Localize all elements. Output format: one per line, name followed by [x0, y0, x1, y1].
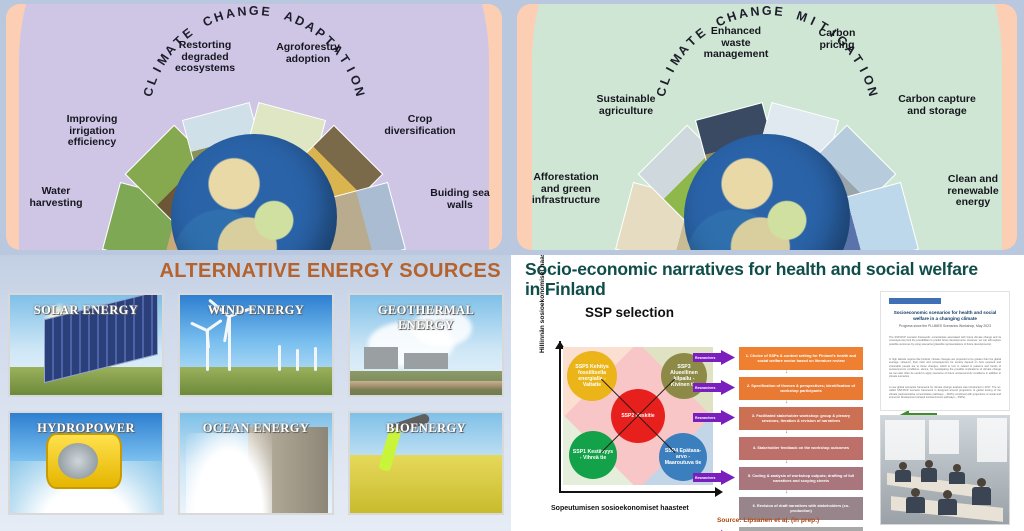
flow-step-box[interactable]: 3. Facilitated stakeholder workshop: gro… — [739, 407, 863, 430]
person-body — [921, 468, 937, 482]
flow-row: Researchers5. Coding & analysis of works… — [693, 467, 883, 494]
turbine-rotor — [58, 443, 98, 479]
rapeseed-field — [350, 455, 502, 513]
plant-building — [364, 347, 398, 369]
wind-turbine-icon — [278, 345, 281, 371]
hydro-turbine-icon — [46, 433, 122, 489]
doc-badge — [889, 298, 941, 304]
researchers-arrow-icon: Researchers — [693, 410, 735, 425]
flow-row: Researchers3. Facilitated stakeholder wo… — [693, 407, 883, 434]
person-head — [911, 488, 920, 497]
x-axis-label: Sopeutumisen sosioekonomiset haasteet — [551, 505, 689, 512]
researchers-arrow-icon: Researchers — [693, 350, 735, 365]
pipeline-icon — [350, 381, 502, 389]
caption-water-harvesting: Water harvesting — [20, 186, 92, 209]
wind-turbine-icon — [228, 315, 231, 371]
caption-sustainable-agriculture: Sustainable agriculture — [587, 94, 665, 117]
energy-tile-ocean[interactable]: OCEAN ENERGY — [178, 411, 334, 515]
energy-tile-grid: SOLAR ENERGY — [8, 293, 506, 529]
flow-down-arrow-icon: ↓ — [785, 429, 788, 435]
caption-irrigation: Improving irrigation efficiency — [56, 114, 128, 149]
flow-step-box[interactable]: 1. Choice of SSPs & context setting for … — [739, 347, 863, 370]
caption-crop-diversification: Crop diversification — [378, 114, 462, 137]
energy-tile-solar[interactable]: SOLAR ENERGY — [8, 293, 164, 397]
flow-row: Researchers7. Final SSP narratives for F… — [693, 527, 883, 531]
flow-down-arrow-icon: ↓ — [785, 369, 788, 375]
caption-agroforestry: Agroforestry adoption — [268, 42, 348, 65]
energy-tile-hydropower[interactable]: HYDROPOWER — [8, 411, 164, 515]
researchers-arrow-label: Researchers — [693, 412, 717, 423]
flow-down-arrow-icon: ↓ — [785, 399, 788, 405]
energy-tile-wind[interactable]: WIND ENERGY — [178, 293, 334, 397]
person-head — [925, 460, 933, 468]
caption-carbon-capture: Carbon capture and storage — [895, 94, 979, 117]
person-body — [906, 497, 925, 513]
alternative-energy-panel: ALTERNATIVE ENERGY SOURCES SOLAR ENERGY — [0, 255, 511, 531]
ssp-subtitle: SSP selection — [585, 305, 674, 320]
slide-collage: CLIMATE CHANGE ADAPTATION Water harvesti… — [0, 0, 1024, 531]
window — [977, 418, 1007, 462]
person-head — [943, 490, 952, 499]
person-body — [972, 487, 991, 505]
caption-afforestation: Afforestation and green infrastructure — [527, 172, 605, 207]
ground — [180, 367, 332, 395]
person-head — [977, 478, 986, 487]
flow-down-arrow-icon: ↓ — [785, 489, 788, 495]
flow-step-box[interactable]: 2. Specification of themes & perspective… — [739, 377, 863, 400]
flow-step-box[interactable]: 5. Coding & analysis of workshop outputs… — [739, 467, 863, 490]
policy-brief-thumbnail[interactable]: Socioeconomic scenarios for health and s… — [880, 291, 1010, 411]
person-body — [895, 470, 911, 482]
energy-tile-label: OCEAN ENERGY — [180, 421, 332, 436]
flow-row: Researchers1. Choice of SSPs & context s… — [693, 347, 883, 374]
doc-paragraph: In high latitude regions like Finland, c… — [889, 358, 1001, 378]
caption-waste-management: Enhanced waste management — [695, 26, 777, 61]
energy-tile-label: WIND ENERGY — [180, 303, 332, 318]
plant-building — [404, 353, 448, 369]
energy-panel-title: ALTERNATIVE ENERGY SOURCES — [159, 260, 501, 283]
caption-sea-walls: Buiding sea walls — [424, 188, 496, 211]
researchers-arrow-label: Researchers — [693, 472, 717, 483]
energy-tile-row-1: SOLAR ENERGY — [8, 293, 506, 397]
spillway-water-icon — [186, 433, 272, 513]
climate-mitigation-panel: CLIMATE CHANGE MITIGATION Afforestation … — [517, 4, 1017, 250]
bubble-ssp1[interactable]: SSP1 Kestävyys - Vihreä tie — [569, 431, 617, 479]
workshop-photo — [880, 415, 1010, 525]
flow-down-arrow-icon: ↓ — [785, 459, 788, 465]
y-axis-line — [559, 341, 561, 493]
researchers-arrow-icon: Researchers — [693, 470, 735, 485]
researchers-arrow-label: Researchers — [693, 382, 717, 393]
energy-tile-label: SOLAR ENERGY — [10, 303, 162, 318]
wind-turbine-icon — [314, 347, 317, 371]
energy-tile-bioenergy[interactable]: BIOENERGY — [348, 411, 504, 515]
wind-turbine-icon — [206, 329, 209, 371]
researchers-arrow-icon: Researchers — [693, 380, 735, 395]
energy-tile-geothermal[interactable]: GEOTHERMAL ENERGY — [348, 293, 504, 397]
doc-heading: Socioeconomic scenarios for health and s… — [889, 310, 1001, 322]
window — [929, 420, 959, 454]
climate-adaptation-panel: CLIMATE CHANGE ADAPTATION Water harvesti… — [6, 4, 502, 250]
quadrant-body: SSP5 Kehitys fossiilisella energialla - … — [563, 347, 713, 485]
bubble-ssp5[interactable]: SSP5 Kehitys fossiilisella energialla - … — [567, 351, 617, 401]
person-body — [938, 499, 957, 515]
process-flow-chart: Researchers1. Choice of SSPs & context s… — [693, 347, 883, 531]
source-citation: Source: Lipsanen et al. (in prep.) — [717, 517, 819, 524]
doc-paragraph: A new global scenarios framework for cli… — [889, 386, 1001, 400]
caption-restoring-ecosystems: Restorting degraded ecosystems — [164, 40, 246, 75]
flow-step-box[interactable]: 4. Stakeholder feedback on the workshop … — [739, 437, 863, 460]
flow-row: Researchers2. Specification of themes & … — [693, 377, 883, 404]
caption-renewable-energy: Clean and renewable energy — [937, 174, 1009, 209]
doc-paragraph: The SSP-RCP scenario framework: uncertai… — [889, 336, 1001, 346]
y-axis-label: Hillinnän sosioekonomiset haasteet — [539, 255, 546, 353]
energy-tile-label: GEOTHERMAL ENERGY — [350, 303, 502, 333]
researchers-arrow-label: Researchers — [693, 352, 717, 363]
doc-subheading: Progress since the PLUMES Scenarios Work… — [889, 324, 1001, 328]
flow-row: 4. Stakeholder feedback on the workshop … — [693, 437, 883, 464]
ssp-narratives-panel: Socio-economic narratives for health and… — [511, 255, 1024, 531]
caption-carbon-pricing: Carbon pricing — [801, 28, 873, 51]
wind-turbine-icon — [296, 349, 299, 371]
energy-tile-label: HYDROPOWER — [10, 421, 162, 436]
person-body — [949, 472, 965, 484]
flow-step-box[interactable]: 7. Final SSP narratives for Finland's he… — [739, 527, 863, 531]
window — [885, 420, 925, 460]
energy-tile-label: BIOENERGY — [350, 421, 502, 436]
person-head — [953, 464, 961, 472]
energy-tile-row-2: HYDROPOWER OCEAN ENERGY BIOENERGY — [8, 411, 506, 515]
adaptation-fan — [89, 4, 419, 250]
person-head — [899, 462, 907, 470]
